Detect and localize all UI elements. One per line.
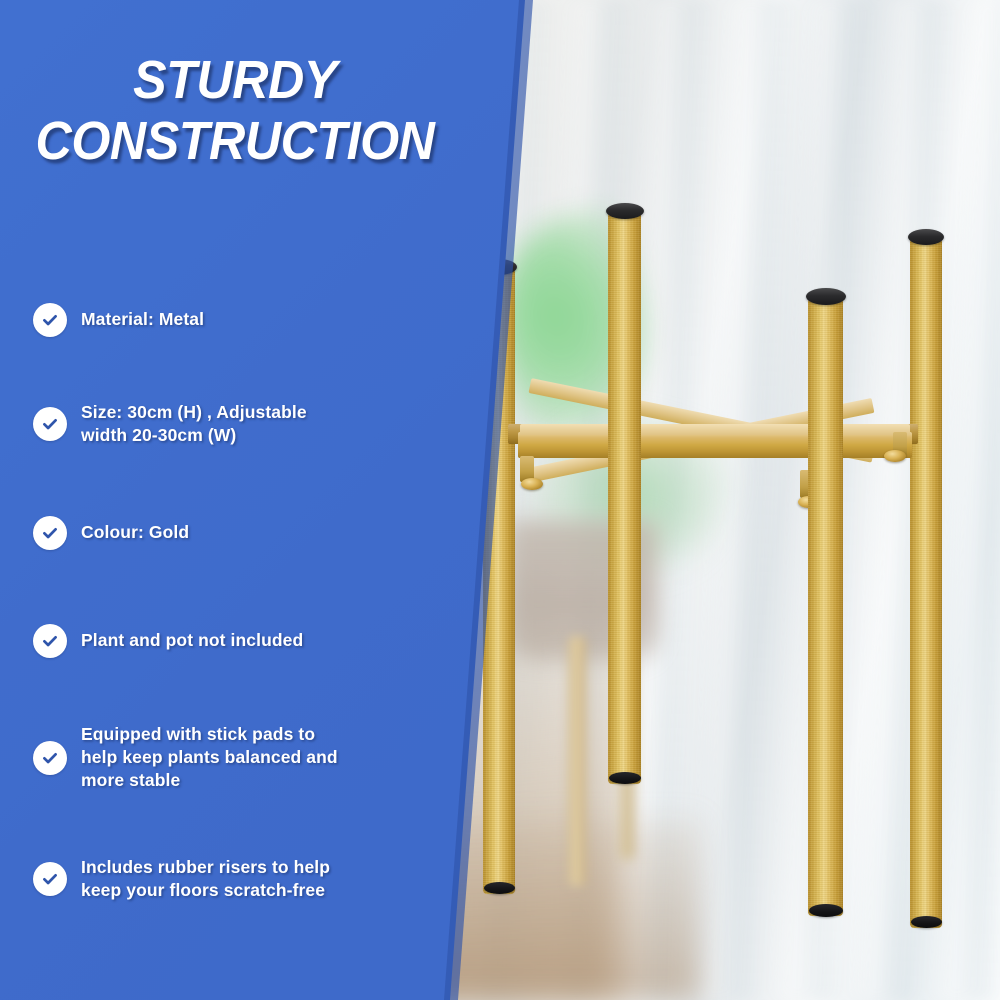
- stand-adjust-knob-left: [521, 478, 543, 490]
- feature-item-material: Material: Metal: [33, 303, 204, 337]
- rubber-cap-top-back-right: [908, 229, 944, 245]
- feature-item-size: Size: 30cm (H) , Adjustable width 20-30c…: [33, 401, 307, 447]
- rubber-cap-top-front-left: [606, 203, 644, 219]
- stand-leg-front-right: [808, 298, 843, 916]
- stand-adjust-knob-right: [884, 450, 906, 462]
- rubber-riser-back-left: [484, 882, 515, 894]
- rubber-riser-back-right: [911, 916, 942, 928]
- stand-leg-front-left: [608, 212, 641, 784]
- check-circle-icon: [33, 303, 67, 337]
- check-circle-icon: [33, 624, 67, 658]
- rubber-cap-top-front-right: [806, 288, 846, 305]
- stand-front-cross-bar-top-face: [520, 424, 910, 435]
- stand-front-cross-bar: [518, 432, 912, 458]
- feature-item-stick-pads: Equipped with stick pads to help keep pl…: [33, 723, 338, 792]
- product-infographic: STURDY CONSTRUCTION Material: Metal Size…: [0, 0, 1000, 1000]
- feature-item-rubber-risers: Includes rubber risers to help keep your…: [33, 856, 330, 902]
- check-circle-icon: [33, 741, 67, 775]
- check-circle-icon: [33, 407, 67, 441]
- feature-item-not-included: Plant and pot not included: [33, 624, 303, 658]
- title-line-1: STURDY: [16, 52, 453, 109]
- feature-text: Colour: Gold: [81, 521, 189, 544]
- feature-text: Includes rubber risers to help keep your…: [81, 856, 330, 902]
- check-circle-icon: [33, 516, 67, 550]
- title-line-2: CONSTRUCTION: [16, 113, 453, 170]
- check-circle-icon: [33, 862, 67, 896]
- feature-text: Equipped with stick pads to help keep pl…: [81, 723, 338, 792]
- feature-text: Plant and pot not included: [81, 629, 303, 652]
- feature-item-colour: Colour: Gold: [33, 516, 189, 550]
- page-title: STURDY CONSTRUCTION: [16, 52, 453, 169]
- rubber-riser-front-right: [809, 904, 843, 917]
- feature-text: Size: 30cm (H) , Adjustable width 20-30c…: [81, 401, 307, 447]
- feature-text: Material: Metal: [81, 308, 204, 331]
- stand-leg-back-right: [910, 238, 942, 928]
- rubber-riser-front-left: [609, 772, 641, 784]
